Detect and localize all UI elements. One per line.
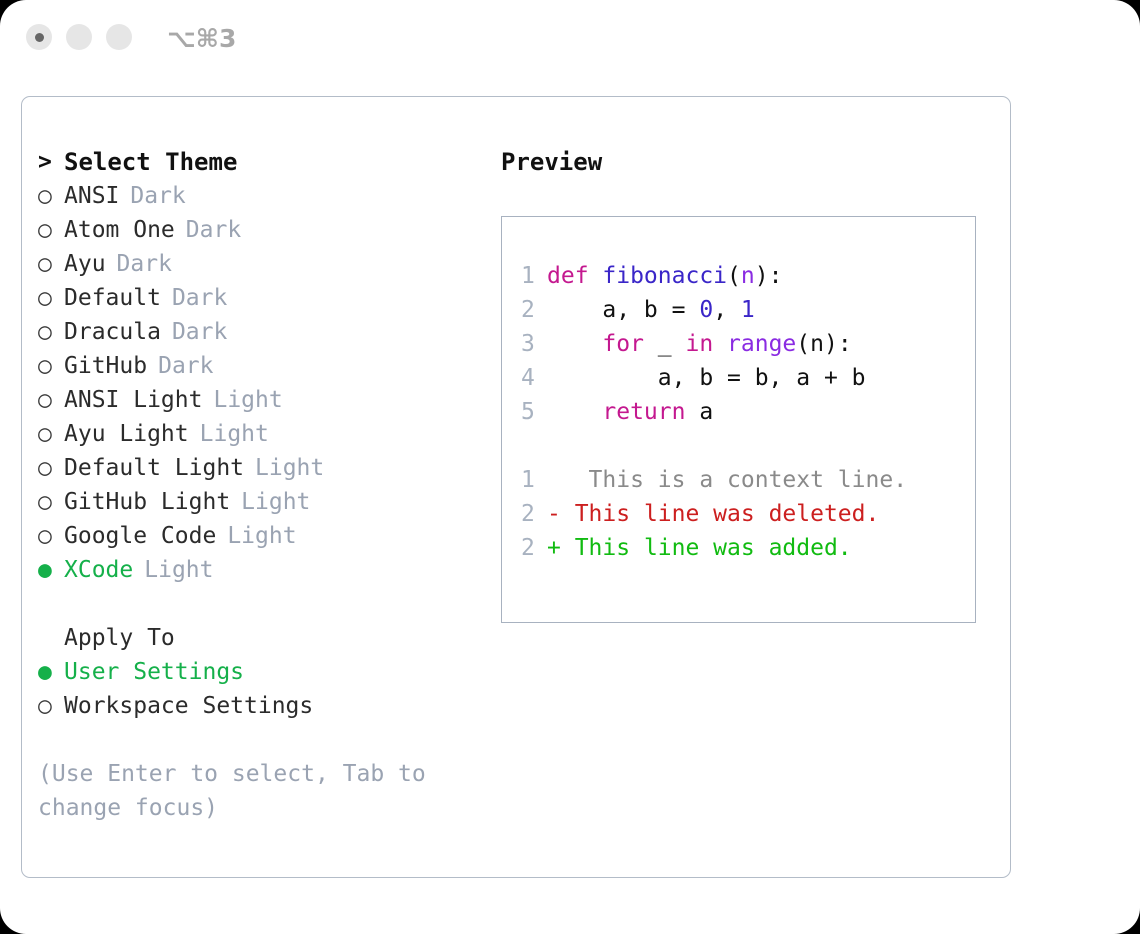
diff-line-text: This is a context line.: [561, 467, 907, 493]
code-line-number: 2: [521, 293, 547, 327]
diff-sign-marker: +: [547, 535, 561, 561]
code-diff-separator: [521, 429, 975, 463]
traffic-light-active[interactable]: [26, 24, 52, 50]
theme-option-label: Default Light: [64, 451, 244, 485]
code-token: 1: [741, 297, 755, 323]
apply-to-option-user-settings[interactable]: ●User Settings: [38, 655, 488, 689]
code-token: (: [727, 263, 741, 289]
code-line: 2 a, b = 0, 1: [521, 293, 975, 327]
theme-variant-badge: Dark: [117, 247, 172, 281]
apply-to-option-label: Workspace Settings: [64, 689, 313, 723]
diff-line-number: 2: [521, 531, 547, 565]
theme-variant-badge: Light: [227, 519, 296, 553]
theme-option-label: GitHub Light: [64, 485, 230, 519]
theme-option-label: ANSI: [64, 179, 119, 213]
code-token: _: [644, 331, 686, 357]
diff-line-add: 2+ This line was added.: [521, 531, 975, 565]
theme-option-label: XCode: [64, 553, 133, 587]
theme-variant-badge: Dark: [186, 213, 241, 247]
radio-unselected-icon: ○: [38, 179, 64, 213]
theme-option-label: GitHub: [64, 349, 147, 383]
radio-unselected-icon: ○: [38, 247, 64, 281]
theme-list-column: > Select Theme ○ANSIDark○Atom OneDark○Ay…: [38, 145, 488, 825]
code-token: for: [602, 331, 644, 357]
theme-variant-badge: Light: [144, 553, 213, 587]
diff-line-number: 2: [521, 497, 547, 531]
apply-to-options-list: ●User Settings○Workspace Settings: [38, 655, 488, 723]
theme-variant-badge: Light: [200, 417, 269, 451]
code-token: [547, 331, 602, 357]
list-spacer: [38, 587, 488, 621]
preview-title: Preview: [501, 145, 991, 179]
code-token: ,: [713, 297, 741, 323]
radio-unselected-icon: ○: [38, 519, 64, 553]
prompt-caret-icon: >: [38, 145, 64, 179]
theme-option-label: Google Code: [64, 519, 216, 553]
code-sample: 1def fibonacci(n):2 a, b = 0, 13 for _ i…: [521, 259, 975, 429]
code-token: fibonacci: [602, 263, 727, 289]
code-line: 4 a, b = b, a + b: [521, 361, 975, 395]
theme-variant-badge: Light: [241, 485, 310, 519]
theme-option-ansi-light[interactable]: ○ANSI LightLight: [38, 383, 488, 417]
traffic-light-dots: [26, 24, 132, 50]
theme-option-github[interactable]: ○GitHubDark: [38, 349, 488, 383]
code-line-number: 3: [521, 327, 547, 361]
radio-selected-icon: ●: [38, 655, 64, 689]
radio-unselected-icon: ○: [38, 281, 64, 315]
radio-unselected-icon: ○: [38, 417, 64, 451]
traffic-light-2[interactable]: [66, 24, 92, 50]
theme-option-default[interactable]: ○DefaultDark: [38, 281, 488, 315]
theme-variant-badge: Dark: [130, 179, 185, 213]
preview-column: Preview 1def fibonacci(n):2 a, b = 0, 13…: [501, 145, 991, 623]
theme-option-ansi[interactable]: ○ANSIDark: [38, 179, 488, 213]
code-line: 1def fibonacci(n):: [521, 259, 975, 293]
code-line-number: 4: [521, 361, 547, 395]
select-theme-header-label: Select Theme: [64, 145, 237, 179]
terminal-window: ⌥⌘3 > Select Theme ○ANSIDark○Atom OneDar…: [0, 0, 1140, 934]
theme-variant-badge: Dark: [172, 315, 227, 349]
code-token: in: [685, 331, 713, 357]
apply-to-option-label: User Settings: [64, 655, 244, 689]
diff-line-del: 2- This line was deleted.: [521, 497, 975, 531]
radio-unselected-icon: ○: [38, 451, 64, 485]
diff-sign-marker: [547, 467, 561, 493]
code-line-number: 5: [521, 395, 547, 429]
code-token: a, b =: [547, 297, 699, 323]
theme-option-xcode[interactable]: ●XCodeLight: [38, 553, 488, 587]
preview-box: 1def fibonacci(n):2 a, b = 0, 13 for _ i…: [501, 216, 976, 623]
theme-option-google-code[interactable]: ○Google CodeLight: [38, 519, 488, 553]
code-token: n: [741, 263, 755, 289]
theme-variant-badge: Dark: [158, 349, 213, 383]
traffic-light-3[interactable]: [106, 24, 132, 50]
apply-to-section-title: Apply To: [38, 621, 488, 655]
diff-line-text: This line was deleted.: [561, 501, 880, 527]
diff-line-ctx: 1 This is a context line.: [521, 463, 975, 497]
theme-option-ayu[interactable]: ○AyuDark: [38, 247, 488, 281]
theme-picker-panel: > Select Theme ○ANSIDark○Atom OneDark○Ay…: [21, 96, 1011, 878]
code-token: (n):: [796, 331, 851, 357]
theme-option-label: Ayu Light: [64, 417, 189, 451]
radio-unselected-icon: ○: [38, 689, 64, 723]
code-line: 3 for _ in range(n):: [521, 327, 975, 361]
code-token: return: [602, 399, 685, 425]
panel-columns: > Select Theme ○ANSIDark○Atom OneDark○Ay…: [22, 97, 1010, 877]
apply-to-label: Apply To: [64, 621, 175, 655]
theme-option-label: Atom One: [64, 213, 175, 247]
theme-option-label: Dracula: [64, 315, 161, 349]
keyboard-shortcut-label: ⌥⌘3: [167, 22, 236, 56]
select-theme-header: > Select Theme: [38, 145, 488, 179]
code-token: 0: [699, 297, 713, 323]
diff-line-number: 1: [521, 463, 547, 497]
theme-option-atom-one[interactable]: ○Atom OneDark: [38, 213, 488, 247]
theme-variant-badge: Light: [255, 451, 324, 485]
code-line: 5 return a: [521, 395, 975, 429]
code-line-number: 1: [521, 259, 547, 293]
code-token: def: [547, 263, 602, 289]
code-token: a: [685, 399, 713, 425]
theme-option-ayu-light[interactable]: ○Ayu LightLight: [38, 417, 488, 451]
code-token: [547, 399, 602, 425]
radio-unselected-icon: ○: [38, 315, 64, 349]
theme-variant-badge: Light: [213, 383, 282, 417]
code-token: [713, 331, 727, 357]
apply-to-option-workspace-settings[interactable]: ○Workspace Settings: [38, 689, 488, 723]
radio-unselected-icon: ○: [38, 213, 64, 247]
title-bar: ⌥⌘3: [0, 0, 1140, 78]
theme-option-github-light[interactable]: ○GitHub LightLight: [38, 485, 488, 519]
code-token: a, b = b, a + b: [547, 365, 866, 391]
theme-variant-badge: Dark: [172, 281, 227, 315]
theme-option-label: Default: [64, 281, 161, 315]
theme-option-default-light[interactable]: ○Default LightLight: [38, 451, 488, 485]
diff-sign-marker: -: [547, 501, 561, 527]
diff-line-text: This line was added.: [561, 535, 852, 561]
code-token: ):: [755, 263, 783, 289]
code-token: range: [727, 331, 796, 357]
theme-option-label: Ayu: [64, 247, 106, 281]
theme-option-dracula[interactable]: ○DraculaDark: [38, 315, 488, 349]
active-dot-inner: [35, 33, 44, 42]
diff-sample: 1 This is a context line.2- This line wa…: [521, 463, 975, 565]
radio-unselected-icon: ○: [38, 485, 64, 519]
radio-selected-icon: ●: [38, 553, 64, 587]
theme-options-list: ○ANSIDark○Atom OneDark○AyuDark○DefaultDa…: [38, 179, 488, 587]
radio-unselected-icon: ○: [38, 349, 64, 383]
theme-option-label: ANSI Light: [64, 383, 202, 417]
radio-unselected-icon: ○: [38, 383, 64, 417]
keyboard-hint-text: (Use Enter to select, Tab to change focu…: [38, 757, 448, 825]
